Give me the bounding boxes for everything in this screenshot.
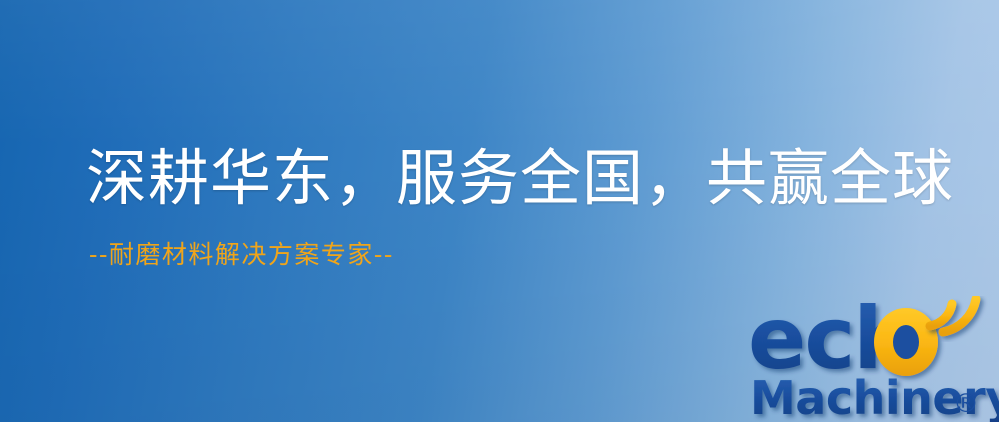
banner-text-block: 深耕华东，服务全国，共赢全球 --耐磨材料解决方案专家-- (86, 148, 954, 267)
banner-subtitle: --耐磨材料解决方案专家-- (89, 242, 954, 267)
logo-gold-o-icon (874, 308, 938, 376)
logo-tagline-group: Machinery ® (750, 371, 999, 422)
signal-arcs-icon (930, 299, 976, 332)
registered-trademark-icon: ® (953, 389, 979, 419)
hero-banner: 深耕华东，服务全国，共赢全球 --耐磨材料解决方案专家-- (0, 0, 999, 422)
company-logo[interactable]: ech Machinery ® (748, 296, 999, 422)
banner-headline: 深耕华东，服务全国，共赢全球 (86, 148, 954, 209)
